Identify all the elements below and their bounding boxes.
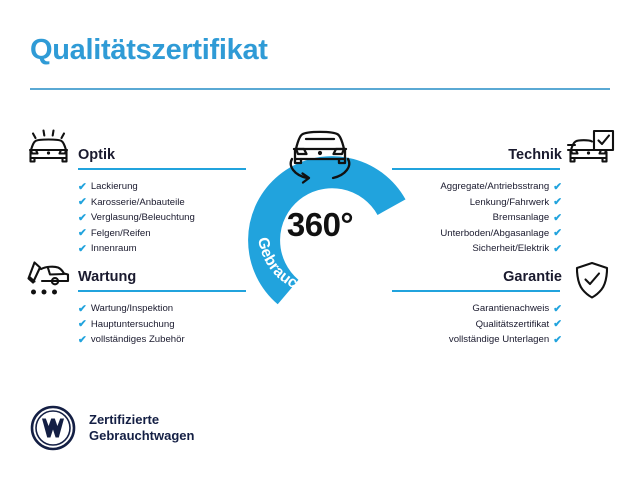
check-icon: ✔ [78, 228, 87, 239]
section-heading-wartung: Wartung [78, 268, 248, 286]
page-title: Qualitätszertifikat [30, 34, 268, 67]
section-optik: Optik ✔Lackierung ✔Karosserie/Anbauteile… [78, 146, 248, 257]
checklist-garantie: Garantienachweis✔ Qualitätszertifikat✔ v… [392, 301, 562, 348]
list-item: Garantienachweis✔ [392, 301, 562, 317]
check-icon: ✔ [78, 244, 87, 255]
section-heading-garantie: Garantie [392, 268, 562, 286]
car-shine-icon [24, 128, 72, 175]
badge-number: 360° [228, 206, 412, 244]
item-label: Unterboden/Abgasanlage [440, 226, 549, 242]
item-label: Innenraum [91, 241, 137, 257]
item-label: Aggregate/Antriebsstrang [440, 179, 549, 195]
section-divider-technik [392, 168, 560, 170]
list-item: ✔Karosserie/Anbauteile [78, 195, 248, 211]
footer-line-1: Zertifizierte [89, 412, 194, 428]
list-item: ✔Wartung/Inspektion [78, 301, 248, 317]
car-checkbox-icon [566, 128, 616, 175]
shield-check-icon [572, 260, 612, 307]
vw-logo-icon [30, 405, 76, 451]
item-label: Lenkung/Fahrwerk [470, 195, 549, 211]
checklist-optik: ✔Lackierung ✔Karosserie/Anbauteile ✔Verg… [78, 179, 248, 257]
list-item: Bremsanlage✔ [392, 210, 562, 226]
check-icon: ✔ [553, 335, 562, 346]
list-item: ✔Hauptuntersuchung [78, 317, 248, 333]
check-icon: ✔ [553, 213, 562, 224]
footer-line-2: Gebrauchtwagen [89, 428, 194, 444]
section-technik: Technik Aggregate/Antriebsstrang✔ Lenkun… [392, 146, 562, 257]
item-label: Lackierung [91, 179, 138, 195]
list-item: vollständige Unterlagen✔ [392, 332, 562, 348]
item-label: Verglasung/Beleuchtung [91, 210, 195, 226]
check-icon: ✔ [553, 304, 562, 315]
section-heading-optik: Optik [78, 146, 248, 164]
check-icon: ✔ [78, 304, 87, 315]
section-divider-optik [78, 168, 246, 170]
item-label: Karosserie/Anbauteile [91, 195, 185, 211]
list-item: ✔Verglasung/Beleuchtung [78, 210, 248, 226]
item-label: Bremsanlage [493, 210, 550, 226]
title-divider [30, 88, 610, 90]
item-label: Sicherheit/Elektrik [472, 241, 549, 257]
list-item: ✔Felgen/Reifen [78, 226, 248, 242]
item-label: Felgen/Reifen [91, 226, 151, 242]
item-label: Qualitätszertifikat [476, 317, 550, 333]
list-item: Qualitätszertifikat✔ [392, 317, 562, 333]
pen-car-service-icon [24, 258, 72, 305]
check-icon: ✔ [553, 182, 562, 193]
footer-brand: Zertifizierte Gebrauchtwagen [30, 405, 194, 451]
checklist-wartung: ✔Wartung/Inspektion ✔Hauptuntersuchung ✔… [78, 301, 248, 348]
check-icon: ✔ [78, 213, 87, 224]
check-icon: ✔ [553, 197, 562, 208]
section-garantie: Garantie Garantienachweis✔ Qualitätszert… [392, 268, 562, 348]
item-label: Garantienachweis [472, 301, 549, 317]
item-label: vollständige Unterlagen [449, 332, 549, 348]
check-icon: ✔ [78, 335, 87, 346]
list-item: ✔Lackierung [78, 179, 248, 195]
list-item: Aggregate/Antriebsstrang✔ [392, 179, 562, 195]
footer-text: Zertifizierte Gebrauchtwagen [89, 412, 194, 444]
list-item: Sicherheit/Elektrik✔ [392, 241, 562, 257]
check-icon: ✔ [553, 244, 562, 255]
list-item: Lenkung/Fahrwerk✔ [392, 195, 562, 211]
check-icon: ✔ [78, 182, 87, 193]
item-label: Hauptuntersuchung [91, 317, 175, 333]
section-wartung: Wartung ✔Wartung/Inspektion ✔Hauptunters… [78, 268, 248, 348]
check-icon: ✔ [553, 228, 562, 239]
360-check-badge: Gebrauchtwagen-Check 360° [228, 140, 412, 324]
list-item: ✔Innenraum [78, 241, 248, 257]
section-divider-wartung [78, 290, 246, 292]
list-item: ✔vollständiges Zubehör [78, 332, 248, 348]
qualitaetszertifikat-page: Qualitätszertifikat [0, 0, 640, 480]
check-icon: ✔ [78, 319, 87, 330]
list-item: Unterboden/Abgasanlage✔ [392, 226, 562, 242]
item-label: vollständiges Zubehör [91, 332, 185, 348]
section-divider-garantie [392, 290, 560, 292]
checklist-technik: Aggregate/Antriebsstrang✔ Lenkung/Fahrwe… [392, 179, 562, 257]
check-icon: ✔ [553, 319, 562, 330]
check-icon: ✔ [78, 197, 87, 208]
item-label: Wartung/Inspektion [91, 301, 173, 317]
section-heading-technik: Technik [392, 146, 562, 164]
car-front-rotate-icon [274, 118, 366, 188]
